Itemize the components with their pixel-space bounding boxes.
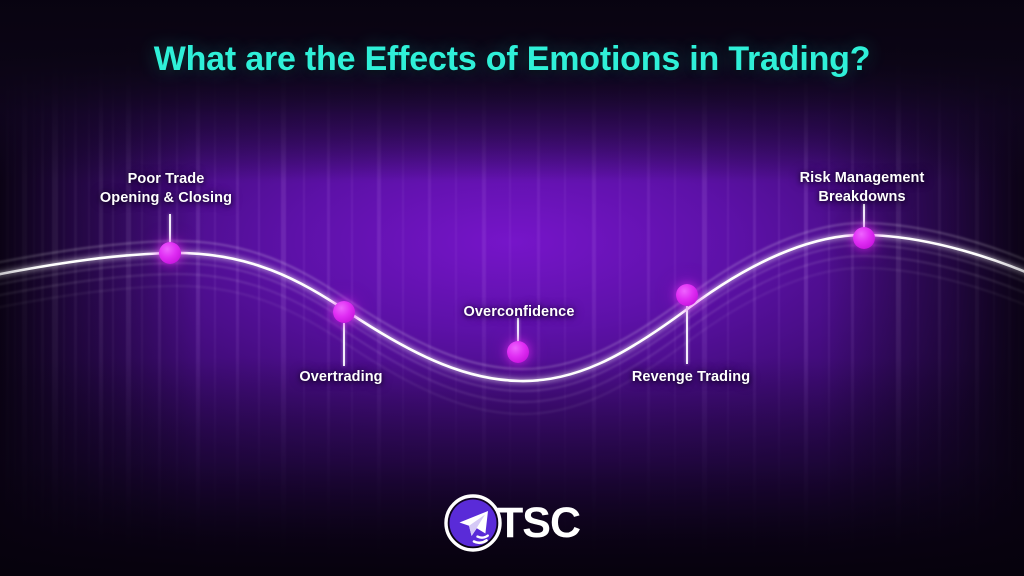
marker-stem: [169, 214, 171, 244]
marker-dot[interactable]: [507, 341, 529, 363]
marker-stem: [343, 323, 345, 366]
logo-wordmark: TSC: [497, 502, 580, 545]
marker-label: Overtrading: [299, 368, 382, 387]
marker-stem: [686, 306, 688, 364]
marker-stem: [863, 204, 865, 228]
marker-label: Overconfidence: [464, 303, 575, 322]
marker-label: Poor Trade Opening & Closing: [100, 170, 232, 208]
marker-label: Revenge Trading: [632, 368, 750, 387]
marker-dot[interactable]: [853, 227, 875, 249]
brand-logo: TSC: [444, 494, 580, 552]
paper-plane-icon: [444, 494, 502, 552]
infographic-canvas: What are the Effects of Emotions in Trad…: [0, 0, 1024, 576]
sine-wave-chart: [0, 0, 1024, 576]
marker-dot[interactable]: [159, 242, 181, 264]
marker-dot[interactable]: [333, 301, 355, 323]
marker-dot[interactable]: [676, 284, 698, 306]
marker-label: Risk Management Breakdowns: [800, 169, 925, 207]
page-title: What are the Effects of Emotions in Trad…: [154, 40, 871, 79]
